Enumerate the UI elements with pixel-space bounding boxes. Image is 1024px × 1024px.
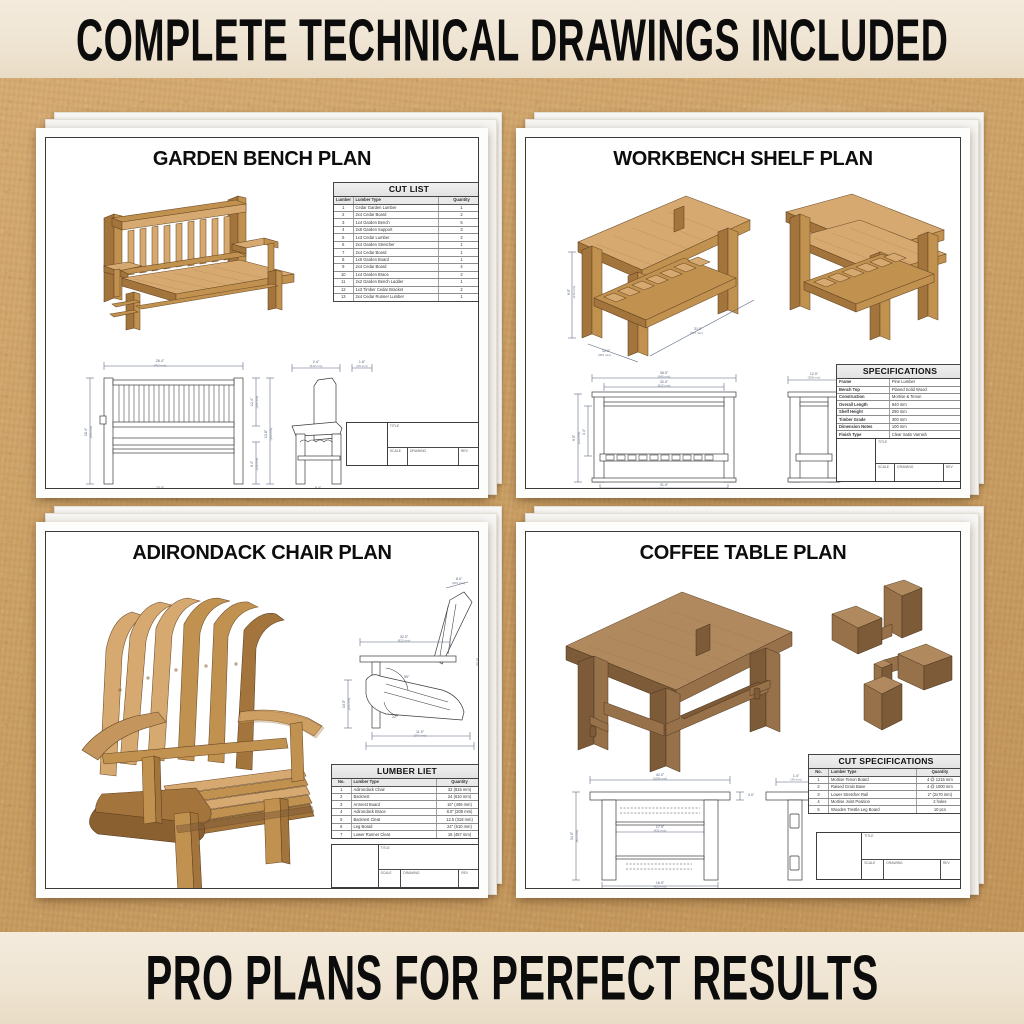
plan-title-adirondack-chair: ADIRONDACK CHAIR PLAN (46, 542, 478, 565)
table-row: 3Armrest Board16" (406 mm) (332, 801, 479, 808)
table-row: 5Wooden Trestle Leg Board10 pcs (809, 806, 961, 812)
dim-metric: (240 mm) (572, 286, 576, 299)
table-cell: 1 (332, 787, 352, 793)
table-cell: Lower Stretcher Rail (829, 791, 917, 797)
table-row: Shelf Height290 mm (837, 409, 961, 416)
coffee-table-front-elevation: 42.0" (1066 mm) 34.0" (863 mm) 17.0" (43… (562, 770, 752, 888)
drawing-frame: ADIRONDACK CHAIR PLAN (45, 531, 479, 889)
dim-label: 9.5" (567, 288, 571, 295)
dim-metric: (1066 mm) (653, 777, 668, 781)
title-field: TITLE (379, 845, 480, 870)
dim-label: 23.0" (156, 486, 165, 489)
title-field: TITLE (876, 439, 961, 464)
bottom-banner: PRO PLANS FOR PERFECT RESULTS (0, 932, 1024, 1024)
dim-label: 10.5" (342, 699, 346, 708)
dim-metric: (787 mm) (690, 331, 703, 335)
table-cell: Leg Board (352, 824, 438, 830)
title-block-fields: TITLE SCALE DRAWING REV (876, 439, 961, 481)
table-cell: 100 mm (890, 424, 961, 430)
table-row: 112x2 Garden Bench Ladder1 (334, 279, 479, 286)
table-cell: 5 (332, 816, 352, 822)
table-cell: Bench Top (837, 387, 890, 393)
table-row: 2Raised Grain Base4 @ 1000 mm (809, 784, 961, 791)
dim-metric: (350 mm) (269, 428, 273, 441)
table-cell: 1 (439, 205, 479, 211)
col-header-qty: Quantity (917, 769, 961, 775)
table-row: 121x3 Timber Cedar Bracket2 (334, 287, 479, 294)
scale-field: SCALE (876, 464, 895, 481)
cut-list-table-garden-bench: CUT LIST Lumber Lumber Type Quantity 1Ce… (333, 182, 479, 302)
col-header-type: Lumber Type (829, 769, 917, 775)
table-cell: Construction (837, 394, 890, 400)
table-cell: 7 (334, 249, 354, 255)
sheet-paper-front: GARDEN BENCH PLAN (36, 128, 488, 498)
table-cell: 2x4 Cedar Runner Lumber (354, 294, 440, 300)
table-cell: Backrest (352, 794, 438, 800)
table-body: FramePine LumberBench TopPlaned Solid Wo… (837, 379, 961, 438)
table-row: 4Adirondack Brace8.0" (205 mm) (332, 809, 479, 816)
table-title: SPECIFICATIONS (837, 365, 961, 379)
table-cell: 2 (332, 794, 352, 800)
angle-label: 22° (392, 715, 398, 719)
dim-label: 13.8" (264, 429, 268, 438)
table-row: 51x3 Cedar Lumber2 (334, 234, 479, 241)
title-field: TITLE (862, 833, 961, 860)
dim-metric: (813 mm) (658, 384, 671, 388)
dim-label: 9.4" (250, 460, 254, 467)
dim-label: 26.4" (156, 359, 165, 363)
dim-metric: (432 mm) (654, 829, 667, 833)
dim-label: 9.4" (315, 486, 322, 489)
rev-field: REV (941, 860, 961, 879)
title-block-logo-area (837, 439, 876, 481)
table-cell: 1 (439, 279, 479, 285)
drawing-frame: COFFEE TABLE PLAN (525, 531, 961, 889)
dim-metric: (292 mm) (414, 734, 427, 738)
table-cell: 2x4 Cedar Board (354, 264, 440, 270)
col-header-no: No. (332, 779, 352, 785)
table-cell: 24" (610 mm) (437, 824, 479, 830)
workbench-front-elevation: 36.5" (940 mm) 32.0" (813 mm) 9.5" (240 … (564, 368, 764, 489)
lumber-list-table-adirondack: LUMBER LIET No. Lumber Type Quantity 1Ad… (331, 764, 479, 839)
table-row: 22x4 Cedar Board2 (334, 212, 479, 219)
angle-label: 95° (404, 675, 410, 679)
adirondack-chair-illustration (68, 572, 338, 862)
table-cell: 1 (334, 205, 354, 211)
dim-metric: (863 mm) (575, 830, 579, 843)
table-cell: 8.0" (205 mm) (437, 809, 479, 815)
table-cell: Adirondack Chair (352, 787, 438, 793)
plan-title-coffee-table: COFFEE TABLE PLAN (526, 542, 960, 565)
table-cell: 4 @ 1000 mm (917, 784, 961, 790)
table-row: Finish TypeClear Satin Varnish (837, 431, 961, 437)
table-cell: 4 (809, 799, 829, 805)
dim-metric: (305 mm) (598, 353, 611, 357)
coffee-table-isometric-illustration (554, 576, 804, 766)
table-cell: 12 (334, 287, 354, 293)
table-cell: 1 (439, 242, 479, 248)
title-block-logo-area (332, 845, 379, 887)
table-cell: 290 mm (890, 409, 961, 415)
cut-specifications-table-coffee-table: CUT SPECIFICATIONS No. Lumber Type Quant… (808, 754, 961, 814)
table-body: 1Mortise Tenon Board4 @ 1215 mm2Raised G… (809, 777, 961, 813)
title-block-coffee-table: TITLE SCALE DRAWING REV (816, 832, 961, 880)
table-cell: 13 (334, 294, 354, 300)
table-row: 3Lower Stretcher Rail2" (2x70 mm) (809, 791, 961, 798)
table-row: ConstructionMortise & Tenon (837, 394, 961, 401)
drawing-frame: GARDEN BENCH PLAN (45, 137, 479, 489)
table-row: 101x4 Garden Brace2 (334, 272, 479, 279)
table-cell: Raised Grain Base (829, 784, 917, 790)
title-block-logo-area (817, 833, 862, 879)
table-cell: 2 (439, 212, 479, 218)
col-header-qty: Quantity (437, 779, 479, 785)
plan-sheet-garden-bench[interactable]: GARDEN BENCH PLAN (36, 112, 502, 498)
table-title: LUMBER LIET (332, 765, 479, 779)
plan-title-workbench-shelf: WORKBENCH SHELF PLAN (526, 148, 960, 171)
table-cell: Overall Length (837, 401, 890, 407)
table-row: 6Leg Board24" (610 mm) (332, 824, 479, 831)
dim-label: 3.0" (748, 793, 755, 797)
dim-metric: (468 mm) (89, 426, 93, 439)
scale-field: SCALE (388, 448, 408, 465)
sheet-paper-front: WORKBENCH SHELF PLAN (516, 128, 970, 498)
table-cell: Finish Type (837, 431, 890, 437)
table-cell: 2 (439, 287, 479, 293)
bottom-banner-text: PRO PLANS FOR PERFECT RESULTS (145, 941, 878, 1014)
table-cell: 2 (439, 272, 479, 278)
table-cell: 2x6 Garden Support (354, 227, 440, 233)
table-row: 42x6 Garden Support3 (334, 227, 479, 234)
table-cell: Dimension Notes (837, 424, 890, 430)
table-cell: 2x4 Cedar Board (354, 212, 440, 218)
table-cell: 2 holes (917, 799, 961, 805)
drawing-field: DRAWING (408, 448, 459, 465)
dim-metric: (266 mm) (347, 698, 351, 711)
table-title: CUT LIST (334, 183, 479, 197)
table-cell: Clear Satin Varnish (890, 431, 961, 437)
dim-metric: (940 mm) (658, 375, 671, 379)
table-row: 92x4 Cedar Board4 (334, 264, 479, 271)
table-cell: 7 (332, 831, 352, 837)
col-header-no: No. (809, 769, 829, 775)
workbench-isometric-left: 9.5" (240 mm) 12.0" (305 mm) 31.0" (787 … (568, 180, 758, 360)
table-cell: 1 (809, 777, 829, 783)
table-cell: Lower Runner Cleat (352, 831, 438, 837)
table-row: FramePine Lumber (837, 379, 961, 386)
mortise-tenon-joinery-detail (826, 580, 956, 730)
table-cell: 3 (809, 791, 829, 797)
table-cell: 940 mm (890, 401, 961, 407)
table-cell: 2 (439, 234, 479, 240)
plan-title-garden-bench: GARDEN BENCH PLAN (46, 148, 478, 171)
table-cell: 2" (2x70 mm) (917, 791, 961, 797)
dim-label: 33.0" (476, 657, 479, 666)
title-block-logo-area (347, 423, 388, 465)
title-block-fields: TITLE SCALE DRAWING REV (379, 845, 480, 887)
dim-metric: (420 mm) (654, 885, 667, 889)
table-row: 1Mortise Tenon Board4 @ 1215 mm (809, 777, 961, 784)
table-cell: 2 (809, 784, 829, 790)
table-title: CUT SPECIFICATIONS (809, 755, 961, 769)
dim-metric: (203 mm) (452, 581, 465, 585)
table-row: 5Backrest Cleat12.5 (318 mm) (332, 816, 479, 823)
table-cell: Mortise Tenon Board (829, 777, 917, 783)
drawing-field: DRAWING (884, 860, 940, 879)
dim-metric: (240 mm) (255, 458, 259, 471)
scale-field: SCALE (379, 870, 402, 887)
table-cell: 2x4 Cedar Board (354, 249, 440, 255)
drawing-field: DRAWING (401, 870, 459, 887)
table-cell: Mortise & Tenon (890, 394, 961, 400)
table-cell: 1x4 Garden Bench (354, 219, 440, 225)
table-row: Dimension Notes100 mm (837, 424, 961, 431)
table-cell: 11 (334, 279, 354, 285)
drawing-field: DRAWING (895, 464, 944, 481)
table-body: 1Adirondack Chair32 (815 mm)2Backrest24 … (332, 787, 479, 838)
table-cell: 5 (334, 234, 354, 240)
table-row: 72x4 Cedar Board1 (334, 249, 479, 256)
table-row: 81x6 Garden Board1 (334, 257, 479, 264)
title-block-workbench: TITLE SCALE DRAWING REV (836, 438, 961, 482)
table-cell: Backrest Cleat (352, 816, 438, 822)
table-cell: 1x3 Cedar Lumber (354, 234, 440, 240)
table-cell: 9 (334, 264, 354, 270)
table-cell: 18 (457 mm) (437, 831, 479, 837)
workbench-isometric-right (774, 182, 954, 342)
table-cell: 1 (439, 249, 479, 255)
table-cell: 10 pcs (917, 806, 961, 812)
table-cell: 4 (332, 809, 352, 815)
table-row: Overall Length940 mm (837, 401, 961, 408)
title-block-fields: TITLE SCALE DRAWING REV (862, 833, 961, 879)
table-row: Bench TopPlaned Solid Wood (837, 387, 961, 394)
top-banner-text: COMPLETE TECHNICAL DRAWINGS INCLUDED (76, 4, 948, 73)
table-cell: Planed Solid Wood (890, 387, 961, 393)
table-cell: 2x2 Garden Bench Ladder (354, 279, 440, 285)
plan-sheet-workbench-shelf[interactable]: WORKBENCH SHELF PLAN (516, 112, 986, 498)
table-cell: 1x3 Timber Cedar Bracket (354, 287, 440, 293)
dim-metric: (305 mm) (255, 396, 259, 409)
table-cell: 16" (406 mm) (437, 801, 479, 807)
table-header-row: No. Lumber Type Quantity (809, 769, 961, 776)
col-header-type: Lumber Type (352, 779, 438, 785)
col-header-type: Lumber Type (354, 197, 440, 203)
table-cell: 5 (439, 219, 479, 225)
sheet-paper-front: ADIRONDACK CHAIR PLAN (36, 522, 488, 898)
table-cell: 12.5 (318 mm) (437, 816, 479, 822)
table-row: 132x4 Cedar Runner Lumber1 (334, 294, 479, 300)
table-cell: 3 (334, 219, 354, 225)
table-cell: 1 (439, 294, 479, 300)
rev-field: REV (459, 448, 479, 465)
dim-label: 9.5" (572, 434, 576, 441)
plan-sheet-coffee-table[interactable]: COFFEE TABLE PLAN (516, 506, 986, 898)
table-header-row: Lumber Lumber Type Quantity (334, 197, 479, 204)
col-header-lumber: Lumber (334, 197, 354, 203)
dim-metric: (25 mm) (356, 364, 367, 368)
table-cell: Pine Lumber (890, 379, 961, 385)
table-cell: Shelf Height (837, 409, 890, 415)
table-cell: 4 @ 1215 mm (917, 777, 961, 783)
table-body: 1Cedar Garden Lumber122x4 Cedar Board231… (334, 205, 479, 301)
dim-metric: (305 mm) (808, 376, 821, 380)
table-cell: 2 (334, 212, 354, 218)
dim-metric: (813 mm) (398, 639, 411, 643)
table-cell: Wooden Trestle Leg Board (829, 806, 917, 812)
table-cell: 10 (334, 272, 354, 278)
table-cell: Frame (837, 379, 890, 385)
table-cell: Timber Grade (837, 416, 890, 422)
table-row: 7Lower Runner Cleat18 (457 mm) (332, 831, 479, 837)
drawing-frame: WORKBENCH SHELF PLAN (525, 137, 961, 489)
table-cell: 5 (809, 806, 829, 812)
table-row: 4Mortise Joint Position2 holes (809, 799, 961, 806)
scale-field: SCALE (862, 860, 884, 879)
table-cell: 1 (439, 257, 479, 263)
dim-metric: (610 mm) (310, 364, 323, 368)
plan-sheet-adirondack-chair[interactable]: ADIRONDACK CHAIR PLAN (36, 506, 502, 898)
dim-metric: (787 mm) (658, 487, 671, 490)
garden-bench-isometric-illustration (82, 178, 302, 328)
table-cell: 8 (334, 257, 354, 263)
table-cell: 2x4 Garden Stretcher (354, 242, 440, 248)
table-cell: Cedar Garden Lumber (354, 205, 440, 211)
dim-metric: (240 mm) (577, 432, 581, 445)
table-cell: 24 (610 mm) (437, 794, 479, 800)
dim-label: 34.0" (570, 831, 574, 840)
table-cell: 1x6 Garden Board (354, 257, 440, 263)
title-field: TITLE (388, 423, 479, 448)
dim-label: 3.4" (582, 428, 586, 435)
dim-label: 12.4" (250, 397, 254, 406)
table-row: 62x4 Garden Stretcher1 (334, 242, 479, 249)
table-cell: 300 mm (890, 416, 961, 422)
dim-metric: (762 mm) (154, 364, 167, 368)
table-row: 1Cedar Garden Lumber1 (334, 205, 479, 212)
title-block-fields: TITLE SCALE DRAWING REV (388, 423, 479, 465)
col-header-qty: Quantity (439, 197, 479, 203)
table-cell: 4 (439, 264, 479, 270)
table-cell: 4 (334, 227, 354, 233)
table-cell: 6 (334, 242, 354, 248)
table-cell: Adirondack Brace (352, 809, 438, 815)
table-cell: Mortise Joint Position (829, 799, 917, 805)
table-row: 31x4 Garden Bench5 (334, 219, 479, 226)
table-row: 1Adirondack Chair32 (815 mm) (332, 787, 479, 794)
table-header-row: No. Lumber Type Quantity (332, 779, 479, 786)
table-cell: 3 (439, 227, 479, 233)
rev-field: REV (459, 870, 479, 887)
table-row: Timber Grade300 mm (837, 416, 961, 423)
dim-label: 18.4" (84, 427, 88, 436)
table-row: 2Backrest24 (610 mm) (332, 794, 479, 801)
title-block-adirondack: TITLE SCALE DRAWING REV (331, 844, 479, 888)
table-cell: 3 (332, 801, 352, 807)
table-cell: 6 (332, 824, 352, 830)
top-banner: COMPLETE TECHNICAL DRAWINGS INCLUDED (0, 0, 1024, 78)
table-cell: 1x4 Garden Brace (354, 272, 440, 278)
rev-field: REV (944, 464, 961, 481)
specifications-table-workbench: SPECIFICATIONS FramePine LumberBench Top… (836, 364, 961, 439)
adirondack-side-elevation: 95° 22° 32.0" (813 mm) (338, 582, 479, 752)
table-cell: Armrest Board (352, 801, 438, 807)
garden-bench-front-elevation: 26.4" (762 mm) 23.0" (584 mm) 18.4" (468… (74, 356, 284, 489)
title-block-garden-bench: TITLE SCALE DRAWING REV (346, 422, 479, 466)
sheet-paper-front: COFFEE TABLE PLAN (516, 522, 970, 898)
dim-metric: (36 mm) (790, 778, 801, 782)
table-cell: 32 (815 mm) (437, 787, 479, 793)
